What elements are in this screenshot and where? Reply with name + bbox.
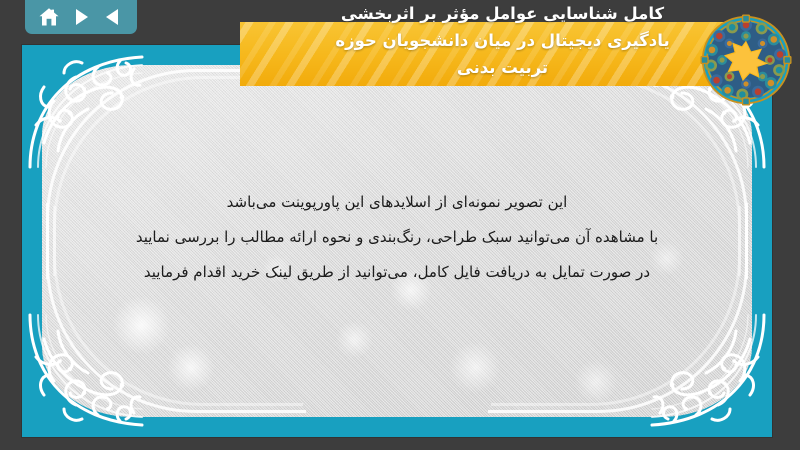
slide-body-text: این تصویر نمونه‌ای از اسلایدهای این پاور…: [62, 185, 732, 290]
body-line-1: این تصویر نمونه‌ای از اسلایدهای این پاور…: [62, 185, 732, 220]
navigation-toolbar: [25, 0, 137, 34]
back-button[interactable]: [99, 5, 127, 29]
presentation-viewer: این تصویر نمونه‌ای از اسلایدهای این پاور…: [0, 0, 800, 450]
home-button[interactable]: [35, 5, 63, 29]
title-line-2: یادگیری دیجیتال در میان دانشجویان حوزه: [240, 27, 765, 54]
home-icon: [38, 7, 60, 27]
islamic-medallion-icon: [700, 14, 792, 106]
title-line-3: تربیت بدنی: [240, 54, 765, 81]
title-banner: کامل شناسایی عوامل مؤثر بر اثربخشی یادگی…: [240, 22, 765, 86]
title-line-1: کامل شناسایی عوامل مؤثر بر اثربخشی: [240, 0, 765, 27]
back-triangle-icon: [103, 7, 123, 27]
slide-canvas[interactable]: این تصویر نمونه‌ای از اسلایدهای این پاور…: [22, 45, 772, 437]
body-line-2: با مشاهده آن می‌توانید سبک طراحی، رنگ‌بن…: [62, 220, 732, 255]
slide-title: کامل شناسایی عوامل مؤثر بر اثربخشی یادگی…: [240, 0, 765, 81]
forward-button[interactable]: [67, 5, 95, 29]
forward-triangle-icon: [71, 7, 91, 27]
body-line-3: در صورت تمایل به دریافت فایل کامل، می‌تو…: [62, 255, 732, 290]
